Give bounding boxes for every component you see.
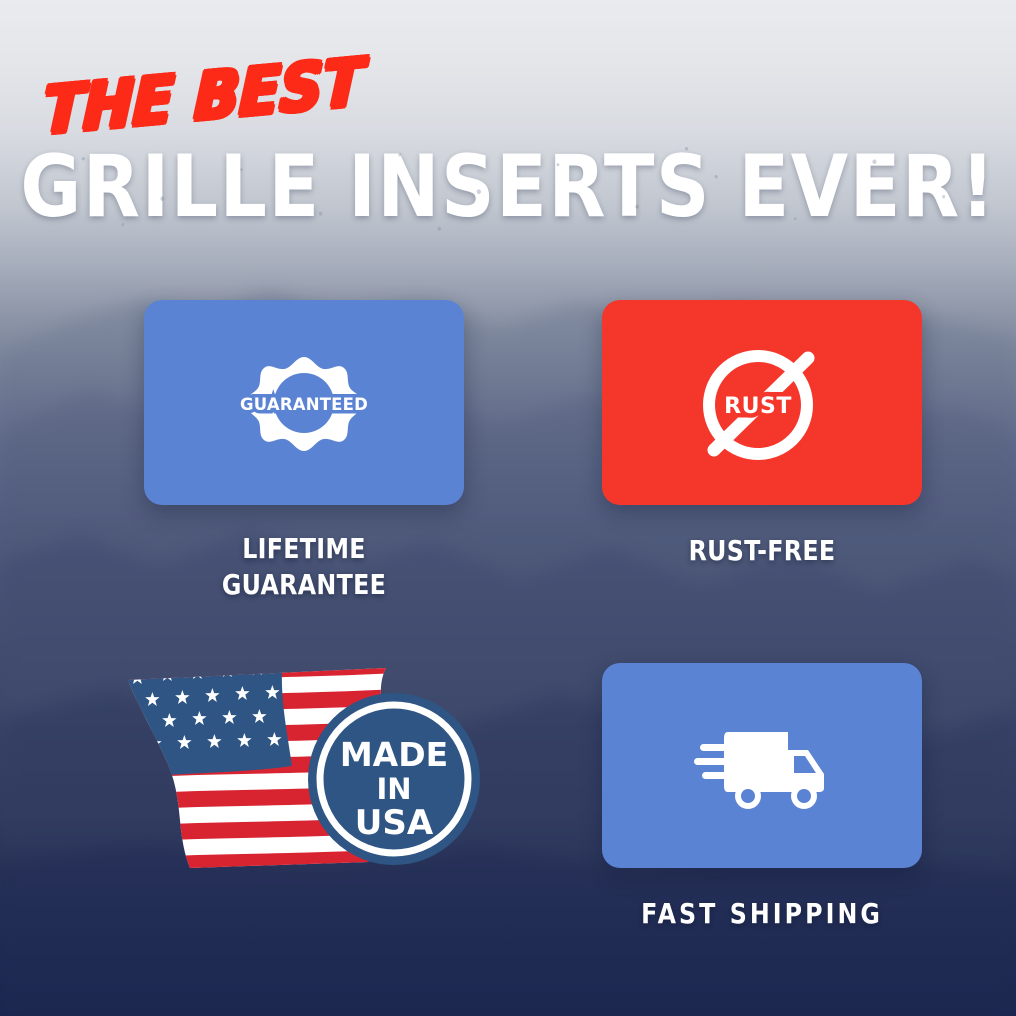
fast-shipping-tile[interactable]: [602, 663, 922, 868]
no-rust-icon: RUST: [692, 336, 832, 470]
feature-fast-shipping[interactable]: FAST SHIPPING: [552, 663, 972, 930]
page-title: GRILLE INSERTS EVER!: [20, 144, 996, 229]
feature-caption-lifetime-guarantee: LIFETIME GUARANTEE: [105, 531, 504, 603]
rust-free-tile[interactable]: RUST: [602, 300, 922, 505]
badge-line-made: MADE: [340, 735, 448, 774]
guarantee-seal-icon: GUARANTEED: [244, 341, 364, 465]
made-in-usa-media[interactable]: MADE IN USA: [114, 663, 494, 873]
badge-line-in: IN: [376, 772, 411, 806]
feature-made-in-usa[interactable]: MADE IN USA: [94, 663, 514, 903]
usa-flag-badge-icon: MADE IN USA: [116, 662, 492, 874]
feature-rust-free[interactable]: RUST RUST-FREE: [552, 300, 972, 567]
headline-kicker: THE BEST: [42, 49, 365, 144]
badge-line-usa: USA: [355, 803, 434, 843]
made-in-usa-badge: MADE IN USA: [308, 693, 480, 865]
guarantee-tile[interactable]: GUARANTEED: [144, 300, 464, 505]
rust-icon-label: RUST: [724, 394, 792, 419]
headline-block: THE BEST GRILLE INSERTS EVER!: [0, 78, 1016, 238]
feature-lifetime-guarantee[interactable]: GUARANTEED LIFETIME GUARANTEE: [94, 300, 514, 599]
promo-graphic: THE BEST GRILLE INSERTS EVER! GUARANTEED: [0, 0, 1016, 1016]
delivery-truck-icon: [694, 720, 830, 812]
feature-caption-rust-free: RUST-FREE: [563, 533, 962, 569]
feature-caption-fast-shipping: FAST SHIPPING: [563, 896, 962, 932]
guarantee-icon-label: GUARANTEED: [240, 395, 368, 414]
